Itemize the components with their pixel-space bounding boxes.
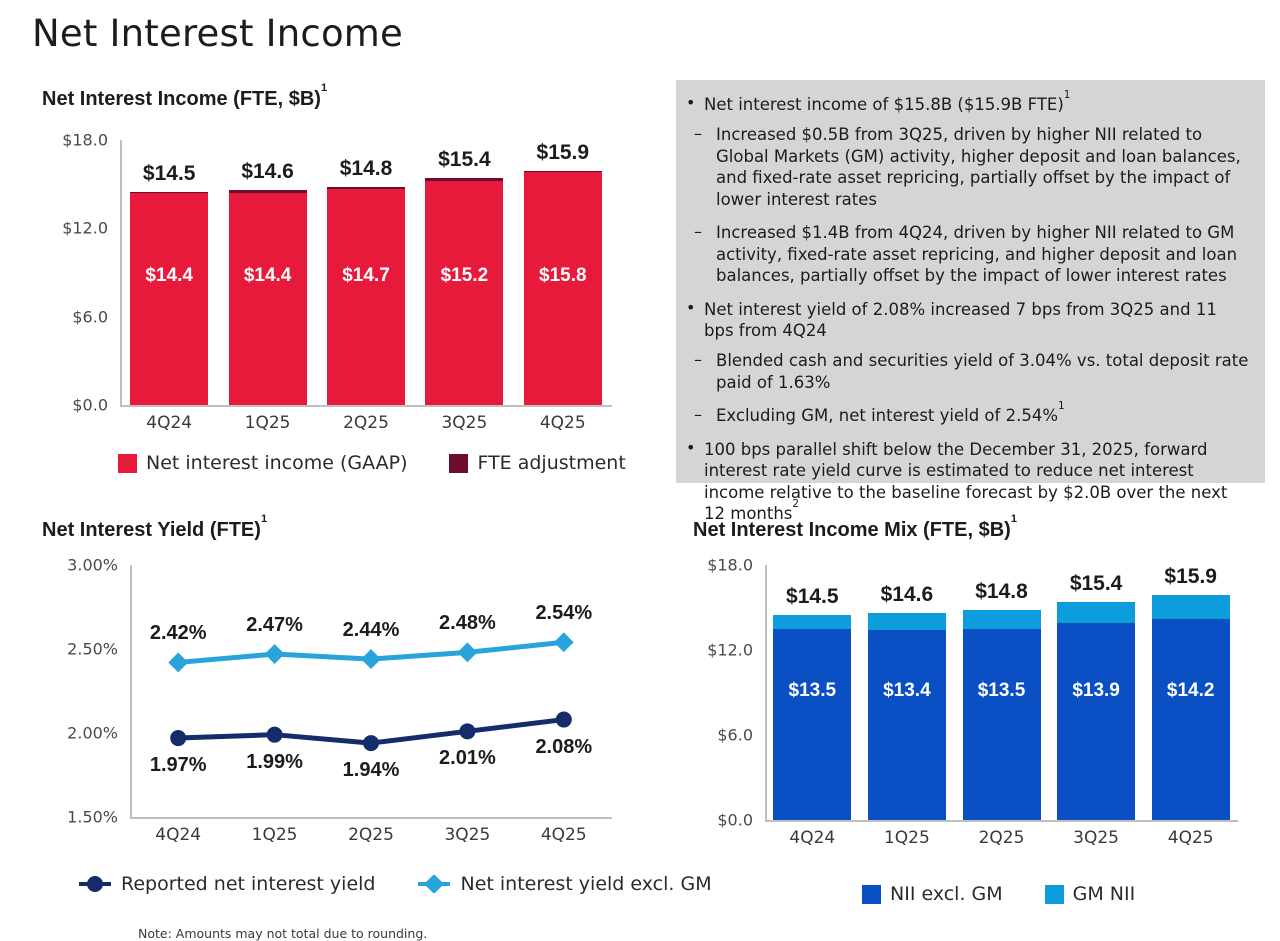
x-axis-tick-label: 4Q25 (516, 825, 612, 845)
legend-color-swatch (118, 454, 137, 473)
mix-chart-heading-superscript: 1 (1011, 513, 1017, 525)
line-point-label: 1.99% (246, 751, 303, 774)
commentary-bullet-list: •Net interest income of $15.8B ($15.9B F… (682, 94, 1251, 524)
bar-segment-secondary[interactable] (425, 178, 503, 181)
x-axis-tick-label: 1Q25 (860, 828, 955, 848)
bar-segment-primary[interactable] (868, 630, 946, 820)
bullet-text: Net interest income of $15.8B ($15.9B FT… (704, 95, 1064, 114)
line-point-label: 1.97% (150, 754, 207, 777)
x-axis-line (765, 820, 1238, 822)
yield-chart-legend: Reported net interest yieldNet interest … (78, 873, 712, 895)
bullet-text: Blended cash and securities yield of 3.0… (716, 351, 1248, 391)
bar-segment-primary[interactable] (524, 172, 602, 405)
bar-value-label: $14.7 (327, 265, 405, 287)
x-axis-tick-label: 4Q25 (1143, 828, 1238, 848)
bullet-text: Net interest yield of 2.08% increased 7 … (704, 300, 1217, 340)
y-axis-tick-label: $18.0 (42, 131, 108, 150)
bar-value-label: $15.8 (524, 265, 602, 287)
nii-chart-legend-item[interactable]: FTE adjustment (449, 452, 625, 474)
bar-value-label: $14.4 (130, 265, 208, 287)
bullet-marker-icon: – (694, 222, 702, 243)
bar-segment-secondary[interactable] (524, 171, 602, 172)
line-series-svg (42, 565, 612, 817)
bar-value-label: $13.5 (773, 680, 851, 702)
bar-segment-primary[interactable] (963, 629, 1041, 820)
bullet-text: 100 bps parallel shift below the Decembe… (704, 440, 1227, 523)
mix-chart-heading: Net Interest Income Mix (FTE, $B)1 (693, 519, 1017, 542)
commentary-bullet: •100 bps parallel shift below the Decemb… (682, 439, 1251, 525)
y-axis-tick-label: $6.0 (42, 307, 108, 326)
line-point-label: 2.54% (535, 602, 592, 625)
line-marker-diamond[interactable] (458, 642, 478, 662)
mix-chart-heading-text: Net Interest Income Mix (FTE, $B) (693, 519, 1011, 541)
bar-value-label: $13.4 (868, 680, 946, 702)
page-title: Net Interest Income (32, 12, 403, 55)
bar-segment-secondary[interactable] (229, 190, 307, 193)
line-marker-diamond[interactable] (554, 632, 574, 652)
bar-segment-secondary[interactable] (868, 613, 946, 630)
bar-segment-primary[interactable] (1152, 619, 1230, 820)
bar-segment-primary[interactable] (425, 181, 503, 405)
line-point-label: 2.08% (535, 736, 592, 759)
bar-column: $13.9$15.4 (1057, 565, 1135, 820)
mix-chart-legend: NII excl. GMGM NII (862, 883, 1135, 905)
nii-chart-heading-text: Net Interest Income (FTE, $B) (42, 88, 321, 110)
x-axis-line (130, 817, 612, 819)
bullet-text: Increased $1.4B from 4Q24, driven by hig… (716, 223, 1237, 285)
line-marker-circle[interactable] (363, 735, 379, 751)
bar-column: $14.7$14.8 (327, 140, 405, 405)
commentary-bullet: •Net interest yield of 2.08% increased 7… (682, 299, 1251, 342)
x-axis-tick-label: 3Q25 (1049, 828, 1144, 848)
y-axis-tick-label: $0.0 (693, 811, 753, 830)
bullet-marker-icon: – (694, 405, 702, 426)
line-point-label: 2.48% (439, 612, 496, 635)
bullet-footnote-superscript: 2 (792, 498, 799, 510)
x-axis-tick-label: 1Q25 (218, 413, 316, 433)
bar-segment-primary[interactable] (229, 193, 307, 405)
line-point-label: 1.94% (343, 759, 400, 782)
commentary-sub-bullet: –Excluding GM, net interest yield of 2.5… (682, 405, 1251, 426)
bar-segment-secondary[interactable] (130, 192, 208, 193)
yield-chart-heading-text: Net Interest Yield (FTE) (42, 519, 261, 541)
legend-label: NII excl. GM (890, 883, 1003, 905)
x-axis-tick-label: 3Q25 (415, 413, 513, 433)
legend-color-swatch (449, 454, 468, 473)
bar-segment-primary[interactable] (130, 193, 208, 405)
commentary-sub-bullet: –Blended cash and securities yield of 3.… (682, 350, 1251, 393)
line-point-label: 2.47% (246, 614, 303, 637)
line-marker-circle[interactable] (267, 727, 283, 743)
bar-segment-secondary[interactable] (1057, 602, 1135, 623)
bar-segment-secondary[interactable] (1152, 595, 1230, 619)
bar-segment-primary[interactable] (1057, 623, 1135, 820)
x-axis-tick-label: 4Q24 (120, 413, 218, 433)
y-axis-tick-label: $0.0 (42, 396, 108, 415)
bar-column: $14.4$14.5 (130, 140, 208, 405)
bullet-footnote-superscript: 1 (1064, 89, 1071, 101)
bullet-marker-icon: • (686, 438, 695, 459)
bar-value-label: $14.2 (1152, 680, 1230, 702)
nii-chart-legend: Net interest income (GAAP)FTE adjustment (118, 452, 626, 474)
bar-column: $14.4$14.6 (229, 140, 307, 405)
yield-chart-heading-superscript: 1 (261, 513, 267, 525)
bar-value-label: $15.2 (425, 265, 503, 287)
bar-column: $14.2$15.9 (1152, 565, 1230, 820)
y-axis-tick-label: $12.0 (42, 219, 108, 238)
bullet-text: Increased $0.5B from 3Q25, driven by hig… (716, 125, 1241, 208)
commentary-sub-bullet: –Increased $0.5B from 3Q25, driven by hi… (682, 124, 1251, 210)
x-axis-tick-label: 4Q25 (514, 413, 612, 433)
legend-diamond-icon (417, 875, 451, 893)
bullet-text: Excluding GM, net interest yield of 2.54… (716, 406, 1058, 425)
footnote-note: Note: Amounts may not total due to round… (138, 926, 427, 941)
bar-segment-primary[interactable] (327, 189, 405, 405)
bar-column: $15.8$15.9 (524, 140, 602, 405)
legend-circle-icon (78, 875, 112, 893)
bar-value-label: $13.9 (1057, 680, 1135, 702)
bar-segment-secondary[interactable] (773, 615, 851, 629)
commentary-sub-list: –Increased $0.5B from 3Q25, driven by hi… (682, 124, 1251, 286)
bullet-marker-icon: • (686, 93, 695, 114)
x-axis-tick-label: 3Q25 (419, 825, 515, 845)
x-axis-line (120, 405, 612, 407)
legend-label: Reported net interest yield (121, 873, 375, 895)
bar-column: $15.2$15.4 (425, 140, 503, 405)
bar-value-label: $14.4 (229, 265, 307, 287)
y-axis-tick-label: $6.0 (693, 726, 753, 745)
nii-chart-heading-superscript: 1 (321, 82, 327, 94)
legend-label: GM NII (1073, 883, 1136, 905)
yield-chart-legend-item[interactable]: Reported net interest yield (78, 873, 375, 895)
commentary-bullet: •Net interest income of $15.8B ($15.9B F… (682, 94, 1251, 115)
x-axis-tick-label: 1Q25 (226, 825, 322, 845)
y-axis-tick-label: $12.0 (693, 641, 753, 660)
line-point-label: 2.01% (439, 747, 496, 770)
x-axis-tick-label: 2Q25 (954, 828, 1049, 848)
bar-total-label: $15.9 (502, 141, 624, 165)
line-marker-circle[interactable] (556, 712, 572, 728)
nii-chart-legend-item[interactable]: Net interest income (GAAP) (118, 452, 407, 474)
yield-line-chart: 1.50%2.00%2.50%3.00%2.42%2.47%2.44%2.48%… (42, 565, 612, 835)
bar-segment-secondary[interactable] (327, 187, 405, 188)
line-marker-diamond[interactable] (361, 649, 381, 669)
yield-chart-legend-item[interactable]: Net interest yield excl. GM (417, 873, 711, 895)
commentary-sub-bullet: –Increased $1.4B from 4Q24, driven by hi… (682, 222, 1251, 286)
line-marker-circle[interactable] (170, 730, 186, 746)
nii-chart-heading: Net Interest Income (FTE, $B)1 (42, 88, 327, 111)
mix-chart-legend-item[interactable]: NII excl. GM (862, 883, 1003, 905)
bar-column: $13.5$14.8 (963, 565, 1041, 820)
yield-chart-heading: Net Interest Yield (FTE)1 (42, 519, 267, 542)
legend-label: Net interest yield excl. GM (460, 873, 711, 895)
line-marker-diamond[interactable] (168, 653, 188, 673)
bar-segment-secondary[interactable] (963, 610, 1041, 628)
line-point-label: 2.42% (150, 622, 207, 645)
bar-total-label: $15.9 (1130, 565, 1252, 589)
bar-value-label: $13.5 (963, 680, 1041, 702)
bar-column: $13.4$14.6 (868, 565, 946, 820)
line-marker-circle[interactable] (459, 723, 475, 739)
legend-color-swatch (862, 885, 881, 904)
legend-label: Net interest income (GAAP) (146, 452, 407, 474)
x-axis-tick-label: 4Q24 (130, 825, 226, 845)
bullet-marker-icon: • (686, 298, 695, 319)
commentary-sub-list: –Blended cash and securities yield of 3.… (682, 350, 1251, 426)
nii-bar-chart: $0.0$6.0$12.0$18.0$14.4$14.54Q24$14.4$14… (42, 140, 612, 420)
bar-segment-primary[interactable] (773, 629, 851, 820)
legend-label: FTE adjustment (477, 452, 625, 474)
x-axis-tick-label: 2Q25 (317, 413, 415, 433)
bullet-footnote-superscript: 1 (1058, 400, 1065, 412)
bullet-marker-icon: – (694, 124, 702, 145)
x-axis-tick-label: 2Q25 (323, 825, 419, 845)
legend-color-swatch (1045, 885, 1064, 904)
line-point-label: 2.44% (343, 619, 400, 642)
commentary-panel: •Net interest income of $15.8B ($15.9B F… (676, 80, 1265, 483)
line-marker-diamond[interactable] (265, 644, 285, 664)
bullet-marker-icon: – (694, 350, 702, 371)
x-axis-tick-label: 4Q24 (765, 828, 860, 848)
y-axis-tick-label: $18.0 (693, 556, 753, 575)
bar-column: $13.5$14.5 (773, 565, 851, 820)
mix-chart-legend-item[interactable]: GM NII (1045, 883, 1136, 905)
mix-bar-chart: $0.0$6.0$12.0$18.0$13.5$14.54Q24$13.4$14… (693, 565, 1238, 835)
